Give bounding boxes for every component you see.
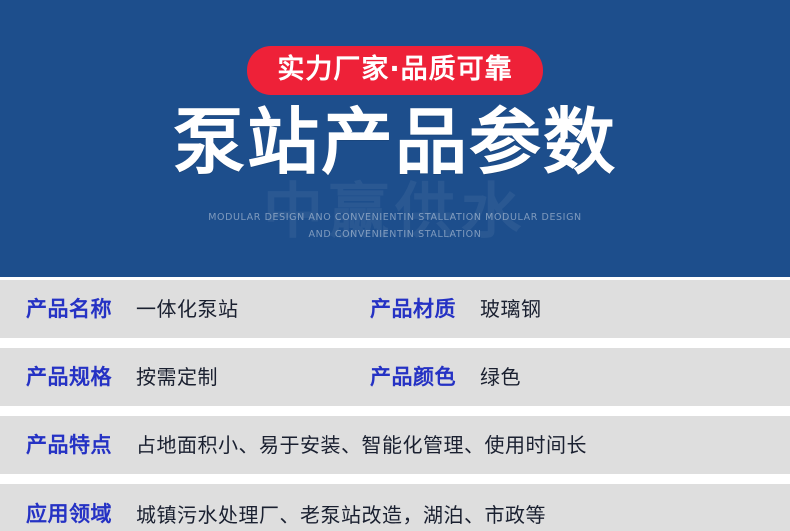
quality-badge: 实力厂家·品质可靠 <box>247 46 542 95</box>
product-spec-banner: 中赢供水 实力厂家·品质可靠 泵站产品参数 MODULAR DESIGN ANO… <box>0 0 790 531</box>
hero-subtitle-line-1: MODULAR DESIGN ANO CONVENIENTIN STALLATI… <box>208 212 582 223</box>
spec-pair-2: 产品材质 玻璃钢 <box>344 299 542 320</box>
spec-value: 玻璃钢 <box>480 299 542 319</box>
spec-value: 按需定制 <box>136 367 218 387</box>
spec-value: 一体化泵站 <box>136 299 239 319</box>
spec-value: 绿色 <box>480 367 521 387</box>
table-row: 应用领域 城镇污水处理厂、老泵站改造，湖泊、市政等 <box>0 484 790 531</box>
spec-pair-1: 产品名称 一体化泵站 <box>0 299 344 320</box>
table-row: 产品名称 一体化泵站 产品材质 玻璃钢 <box>0 280 790 338</box>
spec-value: 城镇污水处理厂、老泵站改造，湖泊、市政等 <box>136 505 546 525</box>
spec-pair-2: 产品颜色 绿色 <box>344 367 521 388</box>
spec-pair-1: 应用领域 城镇污水处理厂、老泵站改造，湖泊、市政等 <box>0 504 546 525</box>
spec-label: 产品名称 <box>26 299 112 320</box>
hero-subtitle-line-2: AND CONVENIENTIN STALLATION <box>0 227 790 244</box>
spec-label: 产品特点 <box>26 435 112 456</box>
spec-label: 应用领域 <box>26 504 112 525</box>
hero-header: 中赢供水 实力厂家·品质可靠 泵站产品参数 MODULAR DESIGN ANO… <box>0 0 790 277</box>
spec-label: 产品颜色 <box>370 367 456 388</box>
hero-inner: 中赢供水 实力厂家·品质可靠 泵站产品参数 MODULAR DESIGN ANO… <box>0 0 790 277</box>
table-row: 产品特点 占地面积小、易于安装、智能化管理、使用时间长 <box>0 416 790 474</box>
spec-pair-1: 产品特点 占地面积小、易于安装、智能化管理、使用时间长 <box>0 435 587 456</box>
spec-value: 占地面积小、易于安装、智能化管理、使用时间长 <box>136 435 587 455</box>
spec-label: 产品规格 <box>26 367 112 388</box>
table-row: 产品规格 按需定制 产品颜色 绿色 <box>0 348 790 406</box>
hero-subtitle: MODULAR DESIGN ANO CONVENIENTIN STALLATI… <box>0 210 790 243</box>
spec-pair-1: 产品规格 按需定制 <box>0 367 344 388</box>
spec-label: 产品材质 <box>370 299 456 320</box>
hero-badge-container: 实力厂家·品质可靠 <box>0 46 790 95</box>
spec-table: 产品名称 一体化泵站 产品材质 玻璃钢 产品规格 按需定制 产品颜色 绿色 产品… <box>0 280 790 531</box>
page-title: 泵站产品参数 <box>0 104 790 180</box>
